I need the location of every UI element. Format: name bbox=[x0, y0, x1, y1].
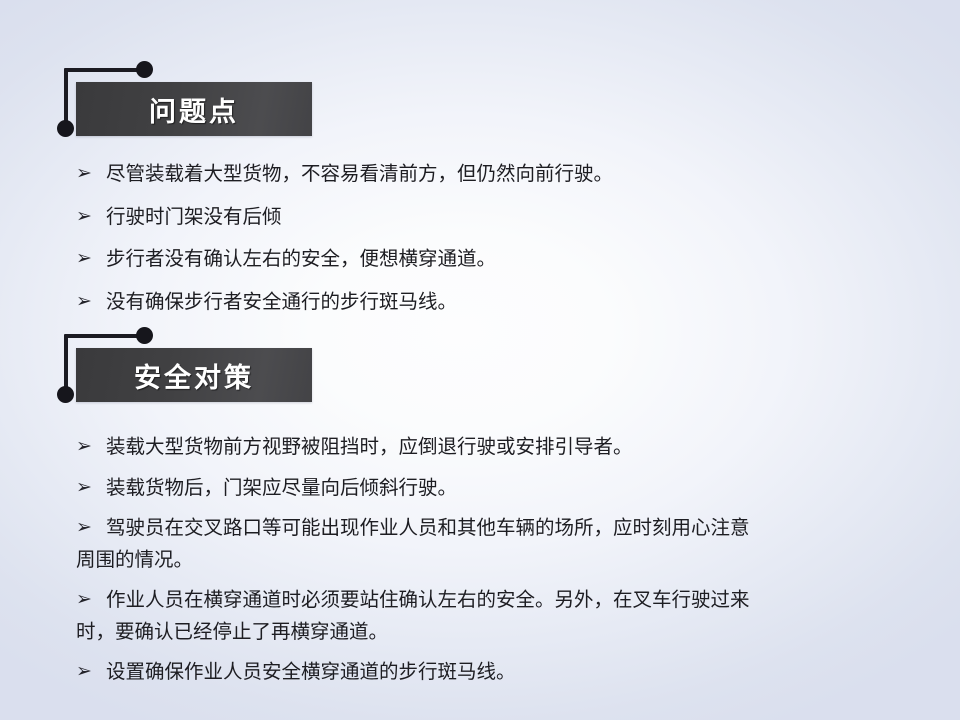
list-item-text: 作业人员在横穿通道时必须要站住确认左右的安全。另外，在叉车行驶过来 时，要确认已… bbox=[106, 584, 948, 647]
bullet-arrow-icon: ➢ bbox=[76, 512, 106, 543]
bullet-arrow-icon: ➢ bbox=[76, 431, 106, 462]
list-item: ➢ 行驶时门架没有后倾 bbox=[76, 201, 948, 233]
list-item-text: 驾驶员在交叉路口等可能出现作业人员和其他车辆的场所，应时刻用心注意 周围的情况。 bbox=[106, 512, 948, 575]
bracket-vertical-line bbox=[64, 68, 68, 130]
list-item-text: 行驶时门架没有后倾 bbox=[106, 201, 948, 233]
section-title-measures: 安全对策 bbox=[134, 356, 254, 395]
bracket-dot-top-right bbox=[136, 61, 153, 78]
list-item-line: 作业人员在横穿通道时必须要站住确认左右的安全。另外，在叉车行驶过来 bbox=[106, 588, 750, 611]
list-item-line-continued: 周围的情况。 bbox=[76, 544, 948, 576]
section-header-measures: 安全对策 bbox=[76, 348, 312, 402]
bracket-horizontal-line bbox=[66, 334, 144, 338]
slide-canvas: 问题点 ➢ 尽管装载着大型货物，不容易看清前方，但仍然向前行驶。 ➢ 行驶时门架… bbox=[0, 0, 960, 720]
bullet-list-measures: ➢ 装载大型货物前方视野被阻挡时，应倒退行驶或安排引导者。 ➢ 装载货物后，门架… bbox=[76, 431, 948, 697]
bracket-horizontal-line bbox=[66, 68, 144, 72]
list-item-text: 尽管装载着大型货物，不容易看清前方，但仍然向前行驶。 bbox=[106, 158, 948, 190]
list-item-text: 装载货物后，门架应尽量向后倾斜行驶。 bbox=[106, 472, 948, 504]
list-item: ➢ 作业人员在横穿通道时必须要站住确认左右的安全。另外，在叉车行驶过来 时，要确… bbox=[76, 584, 948, 647]
bracket-dot-bottom-left bbox=[57, 120, 74, 137]
bracket-dot-bottom-left bbox=[57, 386, 74, 403]
bracket-vertical-line bbox=[64, 334, 68, 396]
bullet-arrow-icon: ➢ bbox=[76, 286, 106, 317]
list-item-line-continued: 时，要确认已经停止了再横穿通道。 bbox=[76, 616, 948, 648]
bullet-arrow-icon: ➢ bbox=[76, 201, 106, 232]
section-header-problems: 问题点 bbox=[76, 82, 312, 136]
list-item-text: 装载大型货物前方视野被阻挡时，应倒退行驶或安排引导者。 bbox=[106, 431, 948, 463]
list-item-text: 设置确保作业人员安全横穿通道的步行斑马线。 bbox=[106, 656, 948, 688]
list-item-text: 步行者没有确认左右的安全，便想横穿通道。 bbox=[106, 243, 948, 275]
bullet-arrow-icon: ➢ bbox=[76, 472, 106, 503]
bullet-arrow-icon: ➢ bbox=[76, 243, 106, 274]
bullet-arrow-icon: ➢ bbox=[76, 584, 106, 615]
section-title-problems: 问题点 bbox=[149, 90, 239, 129]
list-item: ➢ 驾驶员在交叉路口等可能出现作业人员和其他车辆的场所，应时刻用心注意 周围的情… bbox=[76, 512, 948, 575]
bullet-arrow-icon: ➢ bbox=[76, 656, 106, 687]
list-item-text: 没有确保步行者安全通行的步行斑马线。 bbox=[106, 286, 948, 318]
list-item: ➢ 装载货物后，门架应尽量向后倾斜行驶。 bbox=[76, 472, 948, 504]
list-item: ➢ 尽管装载着大型货物，不容易看清前方，但仍然向前行驶。 bbox=[76, 158, 948, 190]
bullet-list-problems: ➢ 尽管装载着大型货物，不容易看清前方，但仍然向前行驶。 ➢ 行驶时门架没有后倾… bbox=[76, 158, 948, 328]
bullet-arrow-icon: ➢ bbox=[76, 158, 106, 189]
list-item: ➢ 步行者没有确认左右的安全，便想横穿通道。 bbox=[76, 243, 948, 275]
list-item: ➢ 没有确保步行者安全通行的步行斑马线。 bbox=[76, 286, 948, 318]
list-item-line: 驾驶员在交叉路口等可能出现作业人员和其他车辆的场所，应时刻用心注意 bbox=[106, 516, 750, 539]
bracket-dot-top-right bbox=[136, 327, 153, 344]
list-item: ➢ 装载大型货物前方视野被阻挡时，应倒退行驶或安排引导者。 bbox=[76, 431, 948, 463]
list-item: ➢ 设置确保作业人员安全横穿通道的步行斑马线。 bbox=[76, 656, 948, 688]
